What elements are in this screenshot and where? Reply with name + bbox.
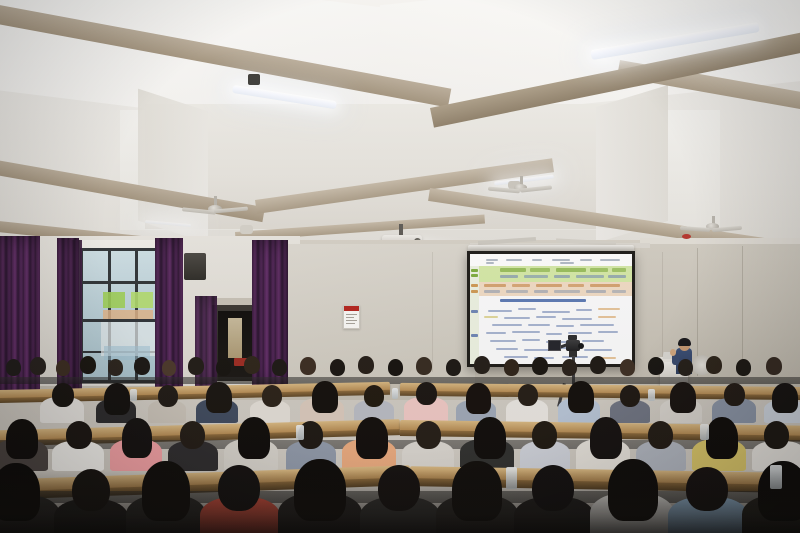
audience-head [416,357,432,375]
audience-hair [104,383,130,415]
wall-speaker [184,253,206,280]
slide-title-text [500,299,586,302]
water-bottle [392,388,398,399]
camera-external-monitor [548,340,561,351]
audience-hair [568,381,594,413]
water-bottle [700,424,709,440]
audience-head [562,359,577,376]
audience-head [244,356,260,374]
audience-head [736,359,751,376]
audience-hair [772,383,798,413]
audience-head [532,421,557,449]
audience-head [446,359,461,376]
audience-head [504,359,519,376]
slide-left-axis-column [470,266,479,364]
audience-hair [466,383,491,414]
audience-head [648,421,673,449]
audience-head [724,383,745,406]
audience-head [300,357,316,375]
audience-hair [670,382,696,413]
audience-hair [590,417,622,459]
audience-head [66,421,92,449]
wall-cap-trim [640,238,800,244]
audience-head [620,385,640,407]
wall-panel-seam [432,252,433,372]
audience-head [474,356,490,374]
audience-hair [238,417,270,459]
ceiling-fan [196,196,236,218]
audience-head [648,357,664,375]
audience-head [80,356,96,374]
audience-hair [6,419,38,459]
audience-head [216,359,231,376]
doorway-light-strip [228,318,242,358]
track-spotlight-icon [240,225,253,234]
audience-head [766,357,782,375]
ceiling [0,0,800,262]
audience-head [590,356,606,374]
audience-hair [206,382,232,413]
water-bottle [296,425,304,440]
audience-head [188,357,204,375]
audience-head [532,357,548,375]
presenter-hair [678,338,691,346]
audience-head [158,385,178,407]
audience-head [272,359,287,376]
audience-head [180,421,205,449]
audience-hair [706,417,738,459]
audience-head [134,357,150,375]
audience-head [56,360,70,376]
audience-hair [356,417,388,459]
audience-head [162,360,176,376]
audience-head [706,356,722,374]
water-bottle [648,389,655,401]
audience-head [388,359,403,376]
foreground-shadow [0,470,800,533]
audience-head [358,356,374,374]
ceiling-fan [500,176,544,198]
lecture-hall-photo [0,0,800,533]
notice-red-header [344,306,359,311]
audience-head [416,382,437,405]
audience-head [620,359,635,376]
audience-head [6,359,21,376]
track-spotlight-icon [248,74,260,85]
audience-head [678,359,693,376]
audience-head [108,359,123,376]
slide-network-area [470,296,632,364]
wall-notice-placard [343,305,360,329]
audience-head [30,357,46,375]
audience-head [330,359,345,376]
audience-hair [474,417,506,459]
audience-head [764,421,789,449]
audience-head [364,385,384,407]
audience-head [52,383,74,407]
water-bottle [130,389,137,401]
camera-lens-icon [578,343,584,349]
audience-head [518,384,538,406]
audience-head [416,421,441,449]
audience-hair [312,381,338,413]
window-slide-reflection [103,292,125,308]
audience-head [262,385,282,407]
window-slide-reflection [131,292,153,308]
window-slide-reflection [103,310,153,319]
audience-hair [122,418,152,458]
smoke-detector-icon [682,234,691,239]
ceiling-fan [690,216,736,236]
